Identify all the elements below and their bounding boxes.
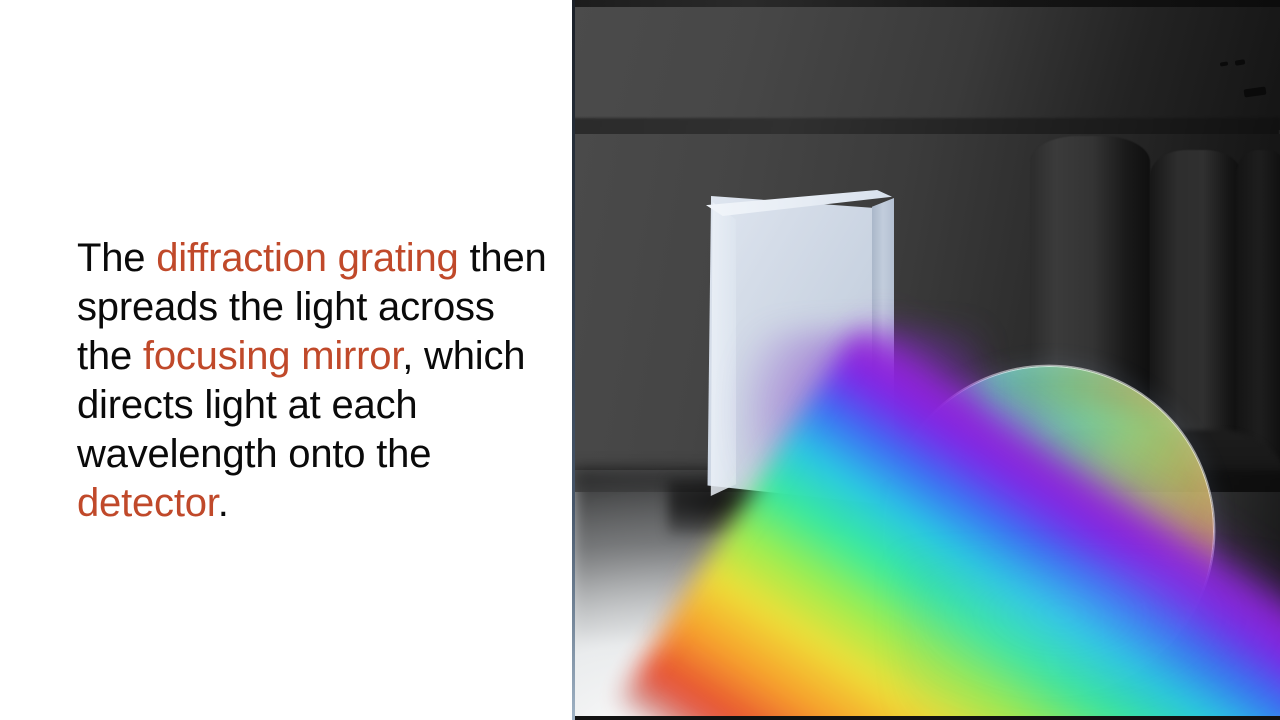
bottom-edge-strip xyxy=(572,716,1280,720)
spectrometer-render xyxy=(572,0,1280,720)
slide-root: The diffraction grating then spreads the… xyxy=(0,0,1280,720)
render-panel-left-edge xyxy=(572,0,575,720)
beam-floor-glow xyxy=(902,560,1280,720)
ceiling-strip xyxy=(572,0,1280,7)
caption-text: The diffraction grating then spreads the… xyxy=(77,234,547,528)
caption-term-detector: detector xyxy=(77,481,218,525)
cylinder-housing-c xyxy=(1236,150,1280,470)
back-wall-upper xyxy=(572,5,1280,130)
caption-panel: The diffraction grating then spreads the… xyxy=(0,0,572,720)
caption-term-diffraction-grating: diffraction grating xyxy=(156,236,458,280)
caption-segment-plain-1: The xyxy=(77,236,156,280)
caption-term-focusing-mirror: focusing mirror xyxy=(143,334,402,378)
caption-segment-plain-4: . xyxy=(218,481,229,525)
